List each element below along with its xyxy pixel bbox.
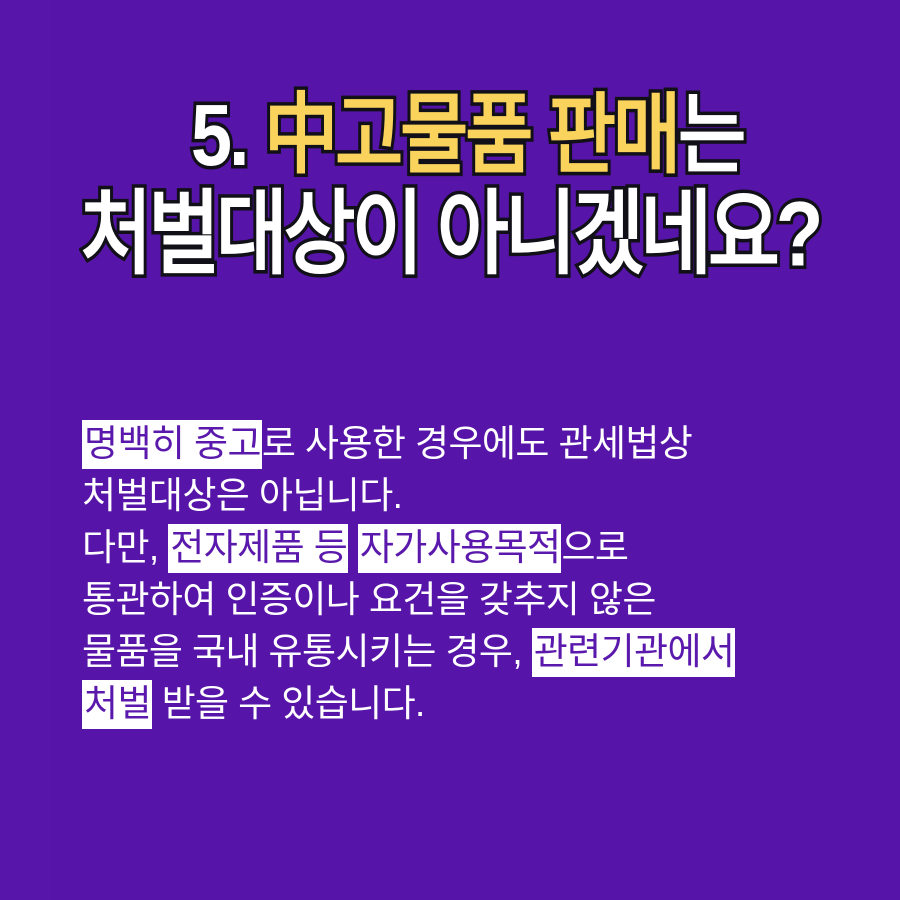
body-text: [348, 527, 358, 568]
body-line-3: 다만, 전자제품 등 자가사용목적으로: [82, 522, 862, 574]
highlight-phrase: 자가사용목적: [358, 524, 562, 573]
highlight-phrase: 관련기관에서: [532, 628, 736, 677]
body-line-4: 통관하여 인증이나 요건을 갖추지 않은: [82, 574, 862, 626]
body-text: 으로: [561, 527, 628, 568]
title-highlight-text: 中고물품 판매: [247, 86, 679, 184]
body-text: 다만,: [82, 527, 168, 568]
body-line-1: 명백히 중고로 사용한 경우에도 관세법상: [82, 418, 862, 470]
highlight-phrase: 처벌: [82, 680, 152, 729]
body-text: 통관하여 인증이나 요건을 갖추지 않은: [82, 579, 656, 620]
body-text: 처벌대상은 아닙니다.: [82, 475, 402, 516]
highlight-phrase: 명백히 중고: [82, 420, 262, 469]
body-text: 받을 수 있습니다.: [152, 683, 425, 724]
body-line-6: 처벌 받을 수 있습니다.: [82, 678, 862, 730]
title-tail-text: 는: [678, 86, 743, 184]
body-text: 로 사용한 경우에도 관세법상: [262, 423, 692, 464]
title-line-1: 5. 中고물품 판매는: [0, 86, 900, 185]
title-line-2: 처벌대상이 아니겠네요?: [0, 184, 900, 283]
body-line-2: 처벌대상은 아닙니다.: [82, 470, 862, 522]
body-text: 물품을 국내 유통시키는 경우,: [82, 631, 532, 672]
info-card: 5. 中고물품 판매는 처벌대상이 아니겠네요? 명백히 중고로 사용한 경우에…: [0, 0, 900, 900]
highlight-phrase: 전자제품 등: [168, 524, 348, 573]
page-title: 5. 中고물품 판매는 처벌대상이 아니겠네요?: [0, 86, 900, 268]
title-number: 5.: [191, 86, 247, 184]
body-line-5: 물품을 국내 유통시키는 경우, 관련기관에서: [82, 626, 862, 678]
body-copy: 명백히 중고로 사용한 경우에도 관세법상 처벌대상은 아닙니다. 다만, 전자…: [82, 418, 862, 730]
